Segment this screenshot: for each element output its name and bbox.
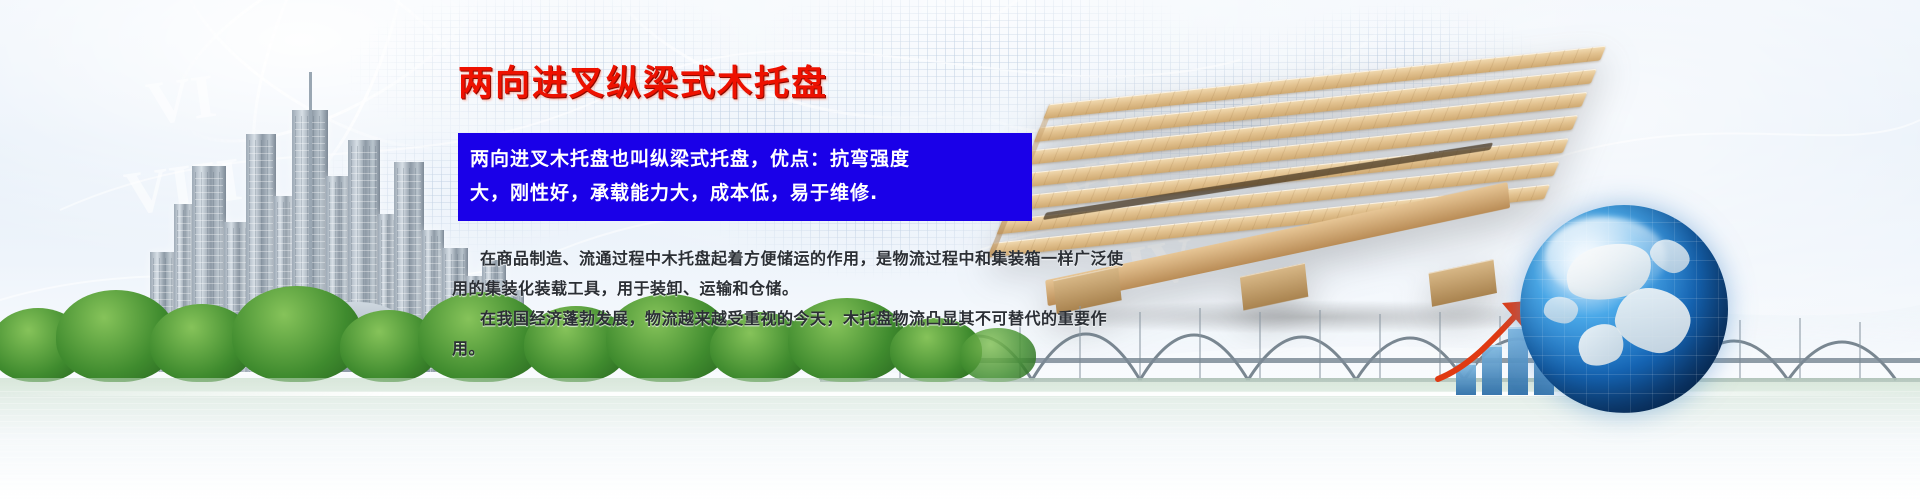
globe-highlight	[1545, 217, 1666, 296]
callout-line-2: 大，刚性好，承载能力大，成本低，易于维修.	[470, 176, 1020, 210]
description-paragraph-2: 在我国经济蓬勃发展，物流越来越受重视的今天，木托盘物流凸显其不可替代的重要作用。	[452, 304, 1132, 364]
banner-stage: VI VIII IX VII IV	[0, 0, 1920, 500]
page-title: 两向进叉纵梁式木托盘	[458, 55, 828, 106]
description-paragraphs: 在商品制造、流通过程中木托盘起着方便储运的作用，是物流过程中和集装箱一样广泛使用…	[452, 244, 1132, 364]
description-paragraph-1: 在商品制造、流通过程中木托盘起着方便储运的作用，是物流过程中和集装箱一样广泛使用…	[452, 244, 1132, 304]
callout-line-1: 两向进叉木托盘也叫纵梁式托盘，优点：抗弯强度	[470, 142, 1020, 176]
earth-globe-graphic	[1520, 205, 1728, 413]
highlight-callout: 两向进叉木托盘也叫纵梁式托盘，优点：抗弯强度 大，刚性好，承载能力大，成本低，易…	[458, 133, 1032, 221]
